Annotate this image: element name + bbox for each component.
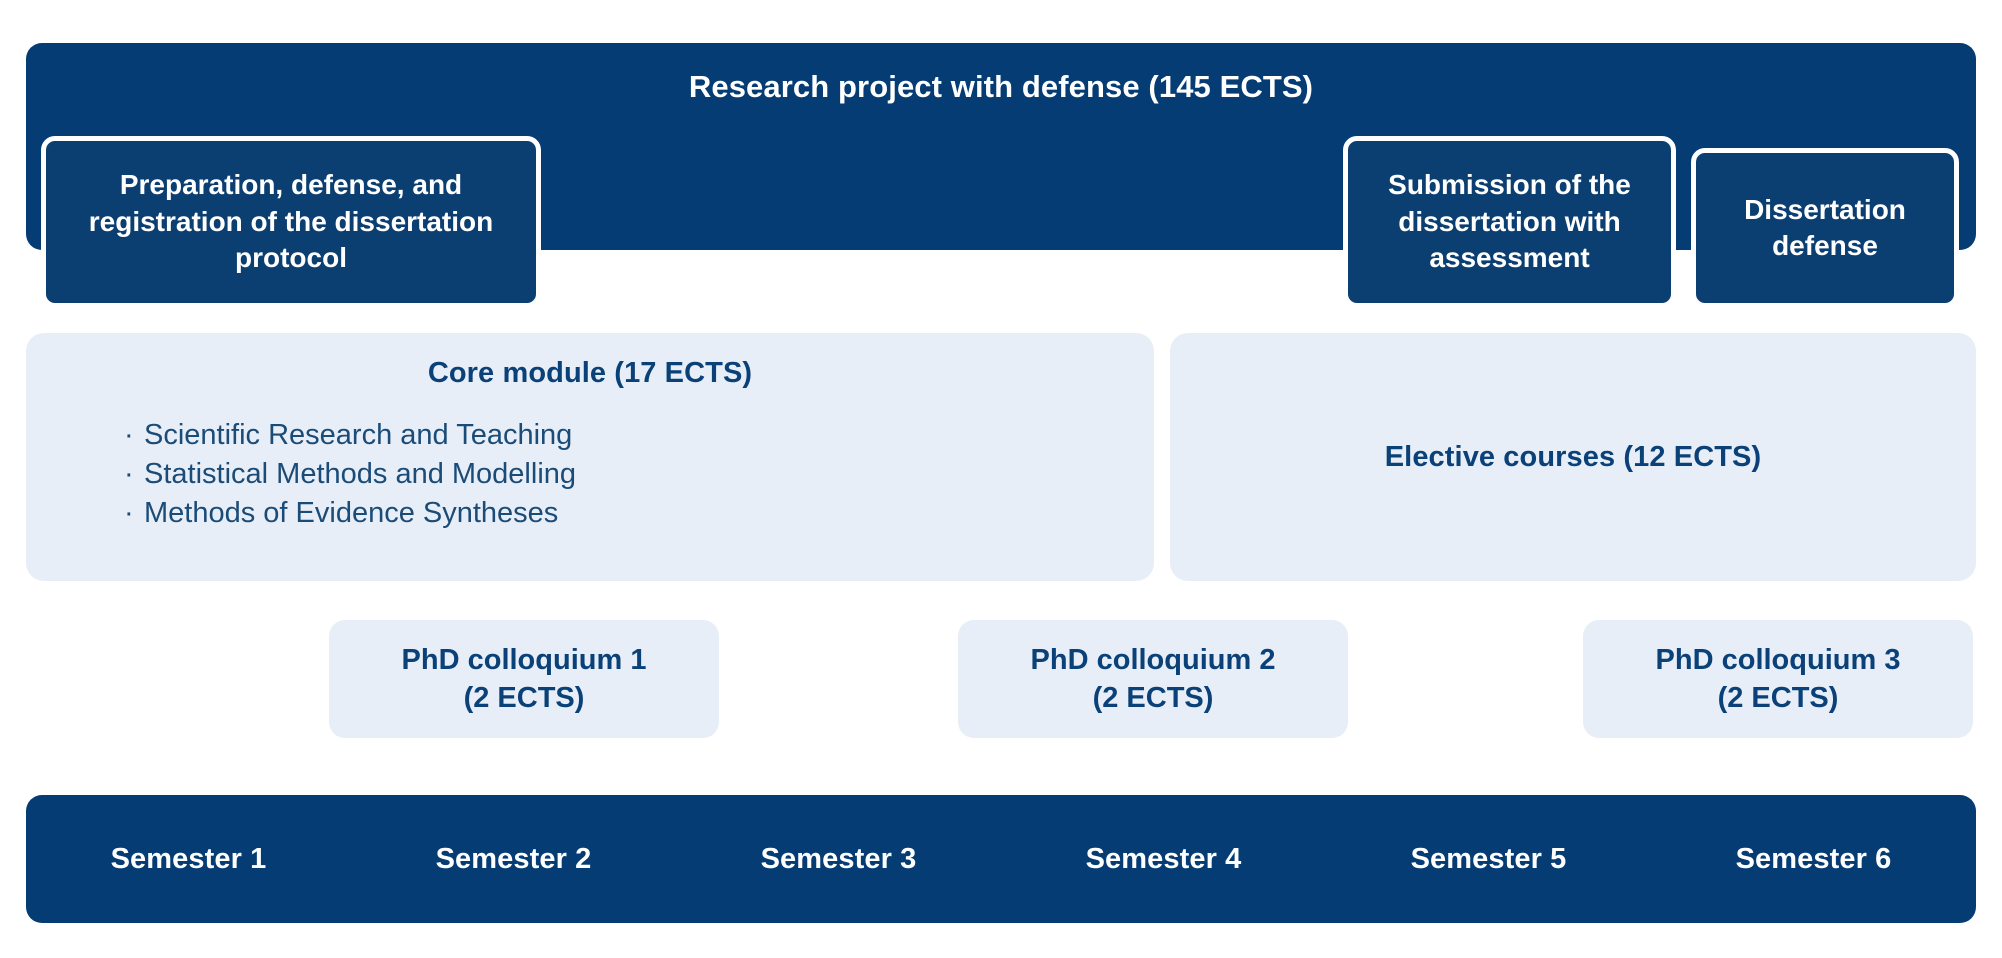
phd-colloquium-3-card: PhD colloquium 3 (2 ECTS) — [1583, 620, 1973, 738]
colloquium-3-name: PhD colloquium 3 — [1656, 644, 1901, 676]
colloquium-3-text: PhD colloquium 3 (2 ECTS) — [1656, 641, 1901, 718]
core-module-item-label: Methods of Evidence Syntheses — [144, 497, 558, 529]
elective-courses-heading: Elective courses (12 ECTS) — [1385, 441, 1762, 474]
core-module-list: ·Scientific Research and Teaching ·Stati… — [26, 416, 1154, 533]
colloquium-1-text: PhD colloquium 1 (2 ECTS) — [402, 641, 647, 718]
semester-cell-6: Semester 6 — [1651, 843, 1976, 876]
research-project-title: Research project with defense (145 ECTS) — [26, 69, 1976, 105]
list-item: ·Statistical Methods and Modelling — [124, 455, 1154, 494]
milestone-protocol-label: Preparation, defense, and registration o… — [58, 167, 524, 276]
core-module-card: Core module (17 ECTS) ·Scientific Resear… — [26, 333, 1154, 581]
colloquium-3-credits: (2 ECTS) — [1718, 682, 1839, 714]
bullet-icon: · — [124, 494, 144, 533]
milestone-defense-label: Dissertation defense — [1708, 192, 1942, 265]
semester-cell-1: Semester 1 — [26, 843, 351, 876]
semester-cell-2: Semester 2 — [351, 843, 676, 876]
milestone-dissertation-submission: Submission of the dissertation with asse… — [1343, 136, 1676, 308]
bullet-icon: · — [124, 416, 144, 455]
milestone-submission-label: Submission of the dissertation with asse… — [1360, 167, 1659, 276]
core-module-item-label: Statistical Methods and Modelling — [144, 458, 576, 490]
phd-colloquium-1-card: PhD colloquium 1 (2 ECTS) — [329, 620, 719, 738]
bullet-icon: · — [124, 455, 144, 494]
colloquium-1-name: PhD colloquium 1 — [402, 644, 647, 676]
colloquium-2-name: PhD colloquium 2 — [1031, 644, 1276, 676]
core-module-heading: Core module (17 ECTS) — [26, 357, 1154, 390]
colloquium-2-credits: (2 ECTS) — [1093, 682, 1214, 714]
semester-cell-4: Semester 4 — [1001, 843, 1326, 876]
phd-colloquium-2-card: PhD colloquium 2 (2 ECTS) — [958, 620, 1348, 738]
semester-cell-3: Semester 3 — [676, 843, 1001, 876]
semester-timeline-bar: Semester 1 Semester 2 Semester 3 Semeste… — [26, 795, 1976, 923]
semester-cell-5: Semester 5 — [1326, 843, 1651, 876]
milestone-dissertation-defense: Dissertation defense — [1691, 148, 1959, 308]
elective-courses-card: Elective courses (12 ECTS) — [1170, 333, 1976, 581]
milestone-dissertation-protocol: Preparation, defense, and registration o… — [41, 136, 541, 308]
list-item: ·Scientific Research and Teaching — [124, 416, 1154, 455]
list-item: ·Methods of Evidence Syntheses — [124, 494, 1154, 533]
core-module-item-label: Scientific Research and Teaching — [144, 419, 572, 451]
colloquium-1-credits: (2 ECTS) — [464, 682, 585, 714]
diagram-canvas: Research project with defense (145 ECTS)… — [0, 0, 2002, 958]
colloquium-2-text: PhD colloquium 2 (2 ECTS) — [1031, 641, 1276, 718]
